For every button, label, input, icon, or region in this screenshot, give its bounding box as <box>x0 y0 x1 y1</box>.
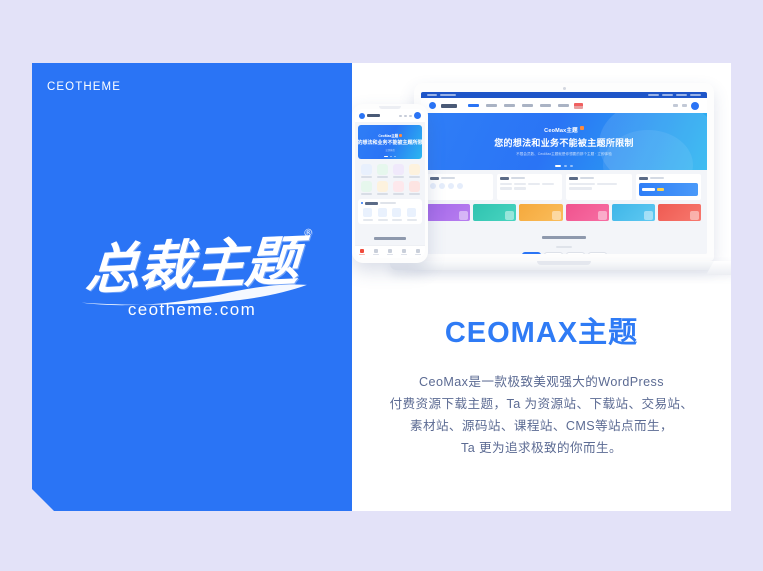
site-avatar <box>691 102 699 110</box>
site-logo-icon <box>429 102 436 109</box>
category-tiles <box>427 204 701 221</box>
mobile-feature-icon[interactable] <box>392 208 401 217</box>
logo-chinese-text: 总裁主题 <box>84 228 301 301</box>
promo-card: CEOTHEME 总裁主题® ceotheme.com <box>32 63 731 511</box>
feature-card[interactable] <box>566 174 632 200</box>
mobile-icon-grid <box>355 162 425 199</box>
pitch-block: CEOMAX主题 CeoMax是一款极致美观强大的WordPress付费资源下载… <box>352 309 731 459</box>
logo-trademark-symbol: ® <box>303 229 314 239</box>
section-title <box>427 226 701 248</box>
category-tile[interactable] <box>658 204 701 221</box>
laptop-screen: CeoMax主题 您的想法和业务不能被主题所限制 不限会员数、CeoMax主题就… <box>421 92 707 254</box>
mobile-section-title <box>355 227 425 245</box>
device-mockup: CeoMax主题 您的想法和业务不能被主题所限制 不限会员数、CeoMax主题就… <box>352 77 731 293</box>
filter-chips[interactable] <box>427 252 701 254</box>
mobile-grid-icon <box>377 181 388 192</box>
mobile-feature-card[interactable] <box>358 199 422 224</box>
hero-headline: 您的想法和业务不能被主题所限制 <box>494 136 634 149</box>
site-navbar <box>421 98 707 113</box>
description-text: CeoMax是一款极致美观强大的WordPress付费资源下载主题，Ta 为资源… <box>374 371 709 459</box>
mobile-feature-icon[interactable] <box>363 208 372 217</box>
mobile-logo-icon <box>359 113 365 119</box>
description-line: CeoMax是一款极致美观强大的WordPress <box>374 371 709 393</box>
mobile-hero-headline: 您的想法和业务不能被主题所限制 <box>358 139 422 146</box>
mobile-tab-item[interactable] <box>373 249 379 256</box>
mobile-grid-icon <box>409 181 420 192</box>
site-nav-flag-icon <box>574 103 583 109</box>
site-nav-menu <box>468 104 569 107</box>
category-tile[interactable] <box>427 204 470 221</box>
mobile-grid-icon <box>361 164 372 175</box>
laptop-mockup: CeoMax主题 您的想法和业务不能被主题所限制 不限会员数、CeoMax主题就… <box>414 83 714 271</box>
mobile-grid-item[interactable] <box>359 164 373 178</box>
laptop-camera-icon <box>563 87 566 90</box>
site-nav-actions <box>673 102 699 110</box>
mobile-grid-item[interactable] <box>407 181 421 195</box>
mobile-tabbar[interactable] <box>355 245 425 258</box>
mobile-grid-item[interactable] <box>359 181 373 195</box>
mobile-avatar <box>414 112 421 119</box>
phone-screen: CeoMax主题 您的想法和业务不能被主题所限制 立即体验 <box>355 109 425 258</box>
description-line: 付费资源下载主题，Ta 为资源站、下载站、交易站、 <box>374 393 709 415</box>
mobile-tab-icon <box>360 249 364 253</box>
brand-panel: CEOTHEME 总裁主题® ceotheme.com <box>32 63 352 511</box>
mobile-tab-item[interactable] <box>387 249 393 256</box>
brand-wordmark: CEOTHEME <box>47 81 121 93</box>
description-line: Ta 更为追求极致的你而生。 <box>374 437 709 459</box>
laptop-base-notch <box>537 261 591 265</box>
category-tile[interactable] <box>519 204 562 221</box>
feature-card[interactable] <box>497 174 563 200</box>
hero-carousel-dots[interactable] <box>555 165 573 167</box>
mobile-grid-icon <box>361 181 372 192</box>
page-title: CEOMAX主题 <box>374 309 709 351</box>
mobile-grid-icon <box>393 181 404 192</box>
site-logo-text <box>441 104 457 108</box>
site-body <box>421 170 707 254</box>
phone-mockup: CeoMax主题 您的想法和业务不能被主题所限制 立即体验 <box>352 104 428 263</box>
laptop-base <box>390 261 731 270</box>
site-feature-row <box>427 174 701 200</box>
hero-badge-icon <box>580 126 584 130</box>
mobile-grid-item[interactable] <box>391 164 405 178</box>
hero-brand-label: CeoMax主题 <box>544 126 584 134</box>
mobile-grid-icon <box>393 164 404 175</box>
laptop-lid: CeoMax主题 您的想法和业务不能被主题所限制 不限会员数、CeoMax主题就… <box>414 83 714 261</box>
hero-subline: 不限会员数、CeoMax主题就是你想要的那个主题 · 立即体验 <box>516 152 612 157</box>
mobile-carousel-dots[interactable] <box>384 156 396 158</box>
mobile-feature-icon[interactable] <box>407 208 416 217</box>
mobile-grid-icon <box>377 164 388 175</box>
description-line: 素材站、源码站、课程站、CMS等站点而生， <box>374 415 709 437</box>
mobile-grid-item[interactable] <box>375 181 389 195</box>
mobile-hero-badge-icon <box>399 134 402 137</box>
mobile-navbar <box>355 109 425 122</box>
mobile-tab-icon <box>374 249 378 253</box>
mobile-tab-item[interactable] <box>401 249 407 256</box>
mobile-grid-item[interactable] <box>391 181 405 195</box>
category-tile[interactable] <box>612 204 655 221</box>
mobile-hero-subline: 立即体验 <box>385 148 395 152</box>
mobile-tab-item[interactable] <box>359 249 365 256</box>
mobile-feature-icon[interactable] <box>378 208 387 217</box>
mobile-tab-icon <box>402 249 406 253</box>
mobile-tab-icon <box>388 249 392 253</box>
mobile-hero-brand: CeoMax主题 <box>378 133 401 138</box>
brand-logo: 总裁主题® ceotheme.com <box>32 238 352 320</box>
logo-chinese-calligraphy: 总裁主题® <box>84 233 300 296</box>
showcase-panel: CeoMax主题 您的想法和业务不能被主题所限制 不限会员数、CeoMax主题就… <box>352 63 731 511</box>
category-tile[interactable] <box>473 204 516 221</box>
mobile-hero-banner: CeoMax主题 您的想法和业务不能被主题所限制 立即体验 <box>358 125 422 159</box>
promo-card-banner[interactable] <box>636 174 702 200</box>
logo-domain-text: ceotheme.com <box>32 300 352 320</box>
site-hero-banner: CeoMax主题 您的想法和业务不能被主题所限制 不限会员数、CeoMax主题就… <box>421 113 707 170</box>
mobile-nav-actions <box>399 112 421 119</box>
feature-card[interactable] <box>427 174 493 200</box>
category-tile[interactable] <box>566 204 609 221</box>
mobile-tab-item[interactable] <box>415 249 421 256</box>
mobile-tab-icon <box>416 249 420 253</box>
mobile-grid-icon <box>409 164 420 175</box>
mobile-grid-item[interactable] <box>407 164 421 178</box>
mobile-logo-text <box>367 114 380 117</box>
mobile-grid-item[interactable] <box>375 164 389 178</box>
